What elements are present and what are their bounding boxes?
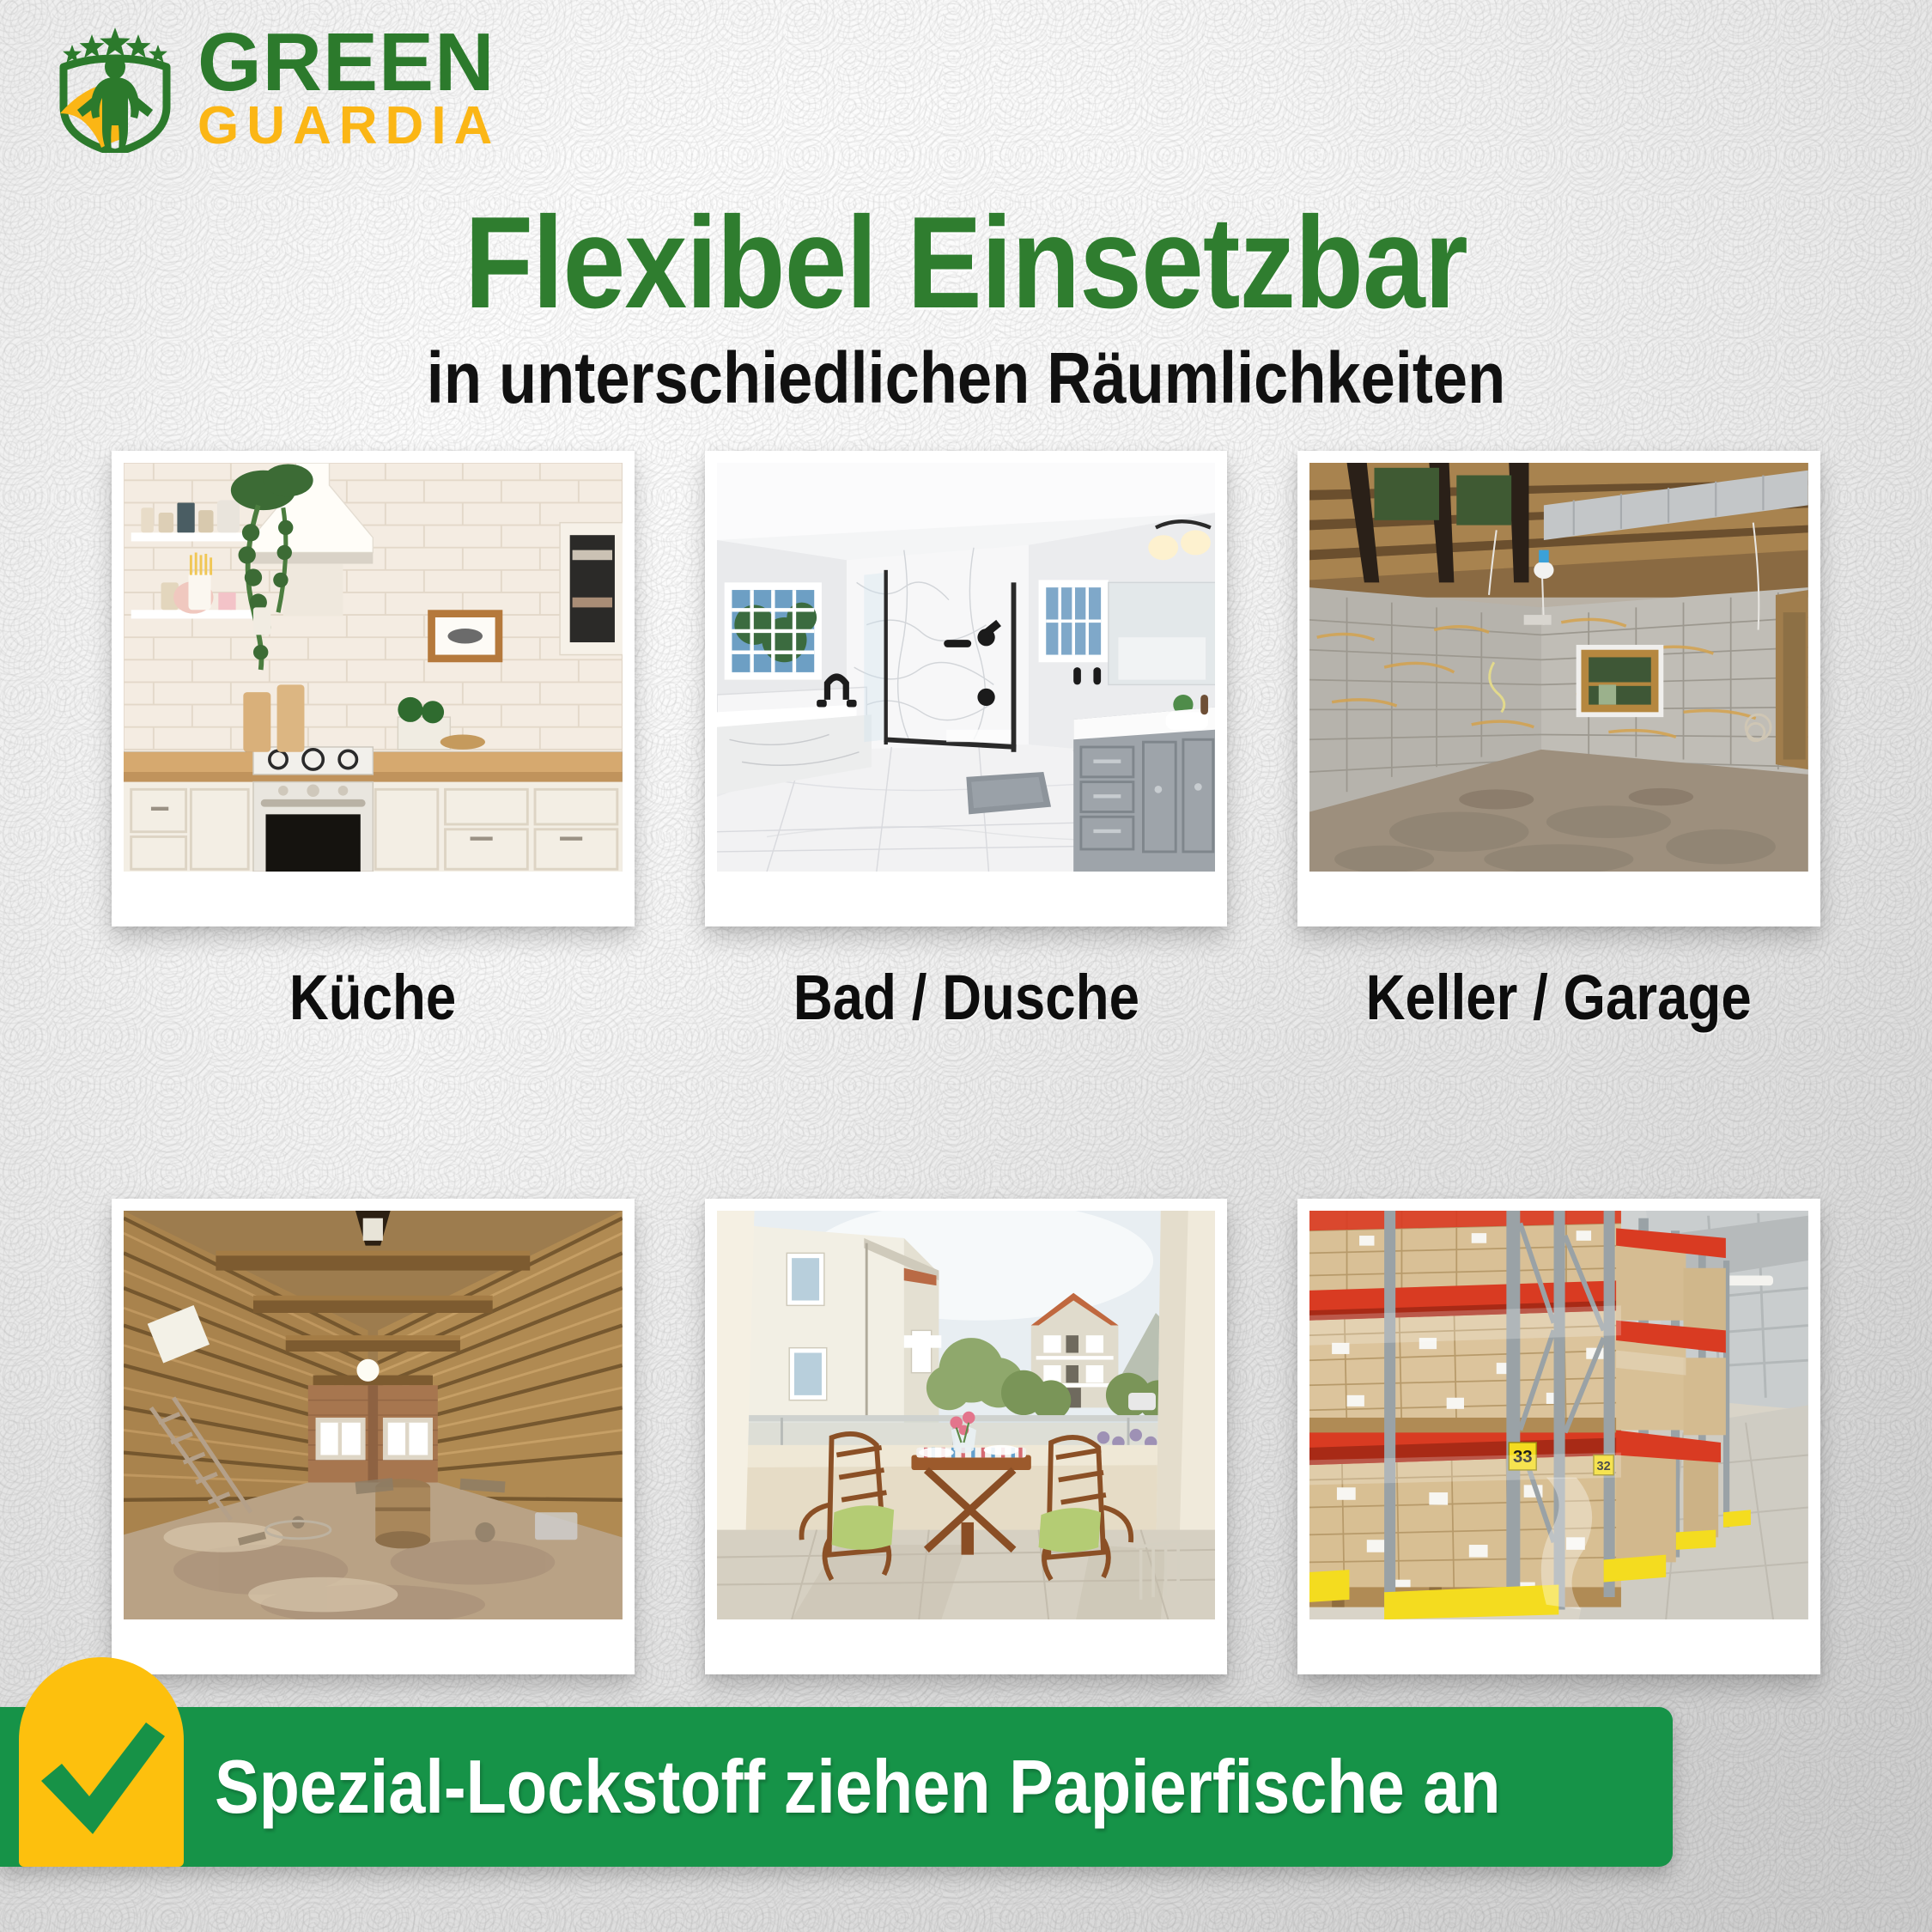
page-subtitle: in unterschiedlichen Räumlichkeiten <box>136 342 1797 414</box>
bottom-banner: Spezial-Lockstoff ziehen Papierfische an <box>0 1707 1673 1867</box>
page-title: Flexibel Einsetzbar <box>136 197 1797 328</box>
photo-card: 33 32 <box>1297 1199 1820 1674</box>
brand-name-primary: GREEN <box>197 27 500 99</box>
gallery-item-warehouse: 33 32 <box>1297 1199 1820 1782</box>
room-caption: Bad / Dusche <box>793 961 1139 1034</box>
photo-card <box>112 1199 635 1674</box>
banner-text: Spezial-Lockstoff ziehen Papierfische an <box>215 1707 1501 1867</box>
balcony-terrace-photo <box>717 1211 1216 1619</box>
poster-root: GREEN GUARDIA Flexibel Einsetzbar in unt… <box>0 0 1932 1932</box>
room-gallery-grid: Küche <box>112 451 1820 1782</box>
basement-garage-photo <box>1309 463 1808 872</box>
photo-card <box>112 451 635 927</box>
photo-card <box>705 1199 1228 1674</box>
photo-card <box>705 451 1228 927</box>
brand-logo: GREEN GUARDIA <box>45 24 500 153</box>
heading-block: Flexibel Einsetzbar in unterschiedlichen… <box>0 197 1932 414</box>
bathroom-photo <box>717 463 1216 872</box>
kitchen-photo <box>124 463 623 872</box>
brand-name-secondary: GUARDIA <box>197 103 500 150</box>
room-caption: Keller / Garage <box>1366 961 1752 1034</box>
checkmark-badge <box>19 1657 184 1867</box>
checkmark-icon <box>33 1714 170 1843</box>
gallery-item-basement: Keller / Garage <box>1297 451 1820 1034</box>
photo-card <box>1297 451 1820 927</box>
gallery-item-attic: Dachboden <box>112 1199 635 1782</box>
gallery-item-kitchen: Küche <box>112 451 635 1034</box>
attic-photo <box>124 1211 623 1619</box>
room-caption: Küche <box>289 961 456 1034</box>
gallery-item-balcony: Terrasse/Balkon <box>705 1199 1228 1782</box>
gallery-item-bathroom: Bad / Dusche <box>705 451 1228 1034</box>
warehouse-photo: 33 32 <box>1309 1211 1808 1619</box>
shield-superhero-icon <box>45 24 185 153</box>
